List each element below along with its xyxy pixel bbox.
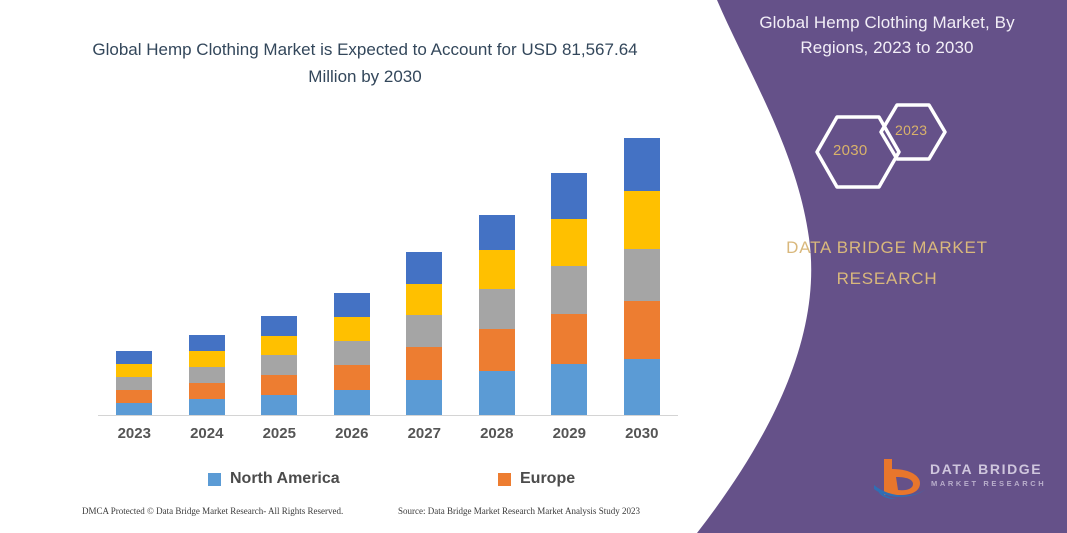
bar-segment bbox=[334, 341, 370, 365]
bar-segment bbox=[406, 380, 442, 416]
x-axis-tick-label: 2024 bbox=[172, 425, 242, 442]
bar-segment bbox=[116, 351, 152, 364]
x-axis-tick-label: 2026 bbox=[317, 425, 387, 442]
legend-color-swatch bbox=[498, 473, 511, 486]
bar-segment bbox=[479, 329, 515, 371]
bar-segment bbox=[116, 390, 152, 403]
bar-segment bbox=[189, 383, 225, 399]
panel-title: Global Hemp Clothing Market, By Regions,… bbox=[727, 10, 1047, 60]
bar-stack bbox=[479, 215, 515, 416]
bar-segment bbox=[406, 284, 442, 315]
footer-source: Source: Data Bridge Market Research Mark… bbox=[398, 506, 640, 516]
bar-stack bbox=[551, 173, 587, 416]
bar-stack bbox=[406, 252, 442, 416]
bar-segment bbox=[116, 377, 152, 390]
bar-segment bbox=[334, 317, 370, 341]
chart-legend: North AmericaEurope bbox=[98, 468, 678, 494]
panel-content: Global Hemp Clothing Market, By Regions,… bbox=[687, 0, 1067, 533]
bar-segment bbox=[479, 215, 515, 250]
x-axis-labels: 20232024202520262027202820292030 bbox=[98, 425, 678, 449]
footer: DMCA Protected © Data Bridge Market Rese… bbox=[0, 506, 710, 526]
bar-segment bbox=[334, 390, 370, 416]
legend-item: North America bbox=[208, 470, 340, 488]
bar-stack bbox=[189, 335, 225, 416]
bar-segment bbox=[551, 219, 587, 266]
bar-segment bbox=[479, 371, 515, 416]
bar-segment bbox=[551, 314, 587, 364]
bar-segment bbox=[189, 351, 225, 367]
x-axis-tick-label: 2028 bbox=[462, 425, 532, 442]
x-axis-tick-label: 2027 bbox=[389, 425, 459, 442]
bar-segment bbox=[479, 289, 515, 329]
bar-segment bbox=[189, 399, 225, 416]
legend-label: North America bbox=[230, 470, 340, 488]
bar-segment bbox=[479, 250, 515, 289]
bar-segment bbox=[624, 138, 660, 191]
brand-panel: Global Hemp Clothing Market, By Regions,… bbox=[687, 0, 1067, 533]
bar-segment bbox=[551, 364, 587, 416]
x-axis-tick-label: 2025 bbox=[244, 425, 314, 442]
bar-segment bbox=[406, 252, 442, 284]
infographic-root: Global Hemp Clothing Market is Expected … bbox=[0, 0, 1067, 533]
bar-segment bbox=[261, 355, 297, 375]
logo-main-text: DATA BRIDGE bbox=[930, 461, 1042, 477]
hexagon-badges: 2030 2023 bbox=[807, 97, 1027, 207]
bar-segment bbox=[406, 347, 442, 380]
legend-label: Europe bbox=[520, 470, 575, 488]
brand-name-line1: DATA BRIDGE MARKET bbox=[727, 232, 1047, 263]
bar-segment bbox=[116, 364, 152, 377]
legend-item: Europe bbox=[498, 470, 575, 488]
x-axis-tick-label: 2029 bbox=[534, 425, 604, 442]
bar-stack bbox=[261, 316, 297, 416]
bar-segment bbox=[189, 367, 225, 383]
logo-sub-text: MARKET RESEARCH bbox=[931, 479, 1046, 488]
bar-segment bbox=[261, 316, 297, 336]
bar-segment bbox=[624, 301, 660, 359]
hex-label-2030: 2030 bbox=[833, 142, 868, 159]
bar-segment bbox=[261, 395, 297, 416]
footer-copyright: DMCA Protected © Data Bridge Market Rese… bbox=[82, 506, 343, 516]
bar-segment bbox=[334, 293, 370, 317]
bar-segment bbox=[551, 173, 587, 219]
bar-segment bbox=[624, 359, 660, 416]
x-axis-line bbox=[98, 415, 678, 416]
bar-segment bbox=[261, 375, 297, 395]
legend-color-swatch bbox=[208, 473, 221, 486]
bridge-mark-icon bbox=[872, 455, 928, 501]
x-axis-tick-label: 2023 bbox=[99, 425, 169, 442]
bar-segment bbox=[406, 315, 442, 347]
x-axis-tick-label: 2030 bbox=[607, 425, 677, 442]
brand-name: DATA BRIDGE MARKET RESEARCH bbox=[727, 232, 1047, 294]
bar-segment bbox=[624, 249, 660, 301]
bar-stack bbox=[116, 351, 152, 416]
bar-segment bbox=[551, 266, 587, 314]
bar-stack bbox=[624, 138, 660, 416]
bar-segment bbox=[624, 191, 660, 249]
brand-name-line2: RESEARCH bbox=[727, 263, 1047, 294]
bar-segment bbox=[189, 335, 225, 351]
bar-segment bbox=[261, 336, 297, 355]
chart-title: Global Hemp Clothing Market is Expected … bbox=[70, 36, 660, 90]
bar-stack bbox=[334, 293, 370, 416]
hex-label-2023: 2023 bbox=[895, 122, 927, 138]
chart-panel: Global Hemp Clothing Market is Expected … bbox=[0, 0, 710, 533]
bar-chart-plot bbox=[98, 120, 678, 416]
bar-segment bbox=[334, 365, 370, 390]
company-logo: DATA BRIDGE MARKET RESEARCH bbox=[872, 455, 1052, 505]
